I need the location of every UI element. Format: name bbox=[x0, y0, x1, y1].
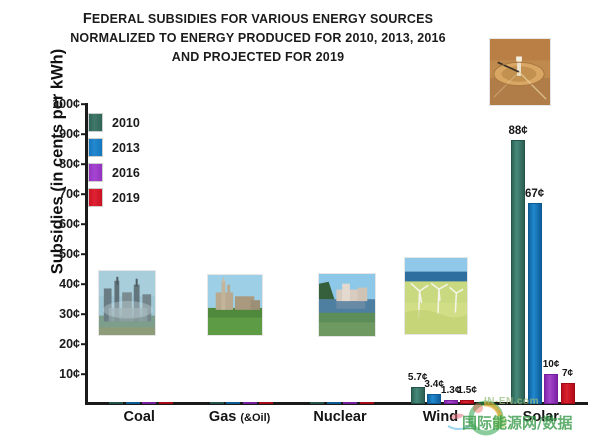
x-category-label-sub: (&Oil) bbox=[240, 412, 270, 424]
x-category-label-nuclear: Nuclear bbox=[313, 409, 366, 425]
y-tick-label: 70¢ bbox=[59, 187, 80, 201]
y-tick-label: 40¢ bbox=[59, 277, 80, 291]
legend-label: 2016 bbox=[112, 166, 140, 180]
y-tick-mark bbox=[81, 223, 86, 225]
y-tick-label: 90¢ bbox=[59, 127, 80, 141]
bar-gasoil-2010[interactable] bbox=[210, 402, 224, 404]
y-tick-label: 10¢ bbox=[59, 367, 80, 381]
bar-value-label: 10¢ bbox=[543, 359, 560, 370]
y-tick-label: 20¢ bbox=[59, 337, 80, 351]
bar-gasoil-2016[interactable] bbox=[243, 402, 257, 404]
bar-nuclear-2013[interactable] bbox=[327, 402, 341, 404]
x-category-label-main: Gas bbox=[209, 409, 240, 425]
x-category-label-main: Wind bbox=[423, 409, 458, 425]
x-category-label-main: Nuclear bbox=[313, 409, 366, 425]
chart-title-line-3: AND PROJECTED FOR 2019 bbox=[28, 48, 488, 67]
y-tick-mark bbox=[81, 343, 86, 345]
bar-value-label: 67¢ bbox=[525, 188, 544, 200]
chart-figure: FFEDERAL SUBSIDIES FOR VARIOUS ENERGY SO… bbox=[0, 0, 600, 440]
chart-title-line-2: NORMALIZED TO ENERGY PRODUCED FOR 2010, … bbox=[28, 29, 488, 48]
x-category-label-gasoil: Gas (&Oil) bbox=[209, 409, 270, 425]
coal-plant-photo bbox=[98, 270, 156, 336]
bar-nuclear-2010[interactable] bbox=[310, 402, 324, 404]
legend-item-2019[interactable]: 2019 bbox=[88, 185, 168, 210]
legend-label: 2019 bbox=[112, 191, 140, 205]
y-tick-label: 100¢ bbox=[52, 97, 80, 111]
y-tick-mark bbox=[81, 313, 86, 315]
legend-item-2010[interactable]: 2010 bbox=[88, 110, 168, 135]
bar-wind-2019[interactable] bbox=[460, 400, 474, 405]
legend-swatch-2019 bbox=[88, 188, 103, 207]
bar-solar-2016[interactable] bbox=[544, 374, 558, 404]
bar-nuclear-2019[interactable] bbox=[360, 402, 374, 404]
bar-value-label: 88¢ bbox=[508, 125, 527, 137]
bar-wind-2016[interactable] bbox=[444, 400, 458, 404]
bar-coal-2010[interactable] bbox=[109, 402, 123, 404]
bar-solar-2013[interactable] bbox=[528, 203, 542, 404]
chart-title-line-1: FFEDERAL SUBSIDIES FOR VARIOUS ENERGY SO… bbox=[28, 10, 488, 29]
gas-plant-photo bbox=[207, 274, 263, 336]
y-tick-label: 80¢ bbox=[59, 157, 80, 171]
bar-gasoil-2019[interactable] bbox=[259, 402, 273, 404]
legend-label: 2013 bbox=[112, 141, 140, 155]
legend-swatch-2013 bbox=[88, 138, 103, 157]
bar-coal-2016[interactable] bbox=[142, 402, 156, 404]
bar-wind-2013[interactable] bbox=[427, 394, 441, 404]
bar-coal-2013[interactable] bbox=[126, 402, 140, 404]
x-category-label-coal: Coal bbox=[124, 409, 155, 425]
wind-farm-photo bbox=[404, 257, 468, 335]
bar-gasoil-2013[interactable] bbox=[226, 402, 240, 404]
legend-item-2016[interactable]: 2016 bbox=[88, 160, 168, 185]
x-category-label-wind: Wind bbox=[423, 409, 458, 425]
x-category-label-main: Coal bbox=[124, 409, 155, 425]
bar-nuclear-2016[interactable] bbox=[343, 402, 357, 404]
y-tick-label: 30¢ bbox=[59, 307, 80, 321]
legend-swatch-2010 bbox=[88, 113, 103, 132]
x-category-label-main: Solar bbox=[523, 409, 559, 425]
legend-label: 2010 bbox=[112, 116, 140, 130]
bar-solar-2010[interactable] bbox=[511, 140, 525, 404]
bar-value-label: 7¢ bbox=[562, 368, 573, 379]
bar-solar-2019[interactable] bbox=[561, 383, 575, 404]
legend-swatch-2016 bbox=[88, 163, 103, 182]
x-category-label-solar: Solar bbox=[523, 409, 559, 425]
y-tick-mark bbox=[81, 133, 86, 135]
y-tick-mark bbox=[81, 253, 86, 255]
y-tick-mark bbox=[81, 283, 86, 285]
y-tick-mark bbox=[81, 193, 86, 195]
chart-legend: 2010201320162019 bbox=[88, 110, 168, 210]
solar-thermal-plant-photo bbox=[489, 38, 551, 106]
bar-coal-2019[interactable] bbox=[159, 402, 173, 404]
y-tick-label: 60¢ bbox=[59, 217, 80, 231]
legend-item-2013[interactable]: 2013 bbox=[88, 135, 168, 160]
nuclear-plant-photo bbox=[318, 273, 376, 337]
y-tick-mark bbox=[81, 373, 86, 375]
y-tick-mark bbox=[81, 163, 86, 165]
chart-title: FFEDERAL SUBSIDIES FOR VARIOUS ENERGY SO… bbox=[28, 10, 488, 67]
y-tick-label: 50¢ bbox=[59, 247, 80, 261]
bar-wind-2010[interactable] bbox=[411, 387, 425, 404]
bar-value-label: 1.5¢ bbox=[457, 385, 476, 396]
y-tick-mark bbox=[81, 103, 86, 105]
